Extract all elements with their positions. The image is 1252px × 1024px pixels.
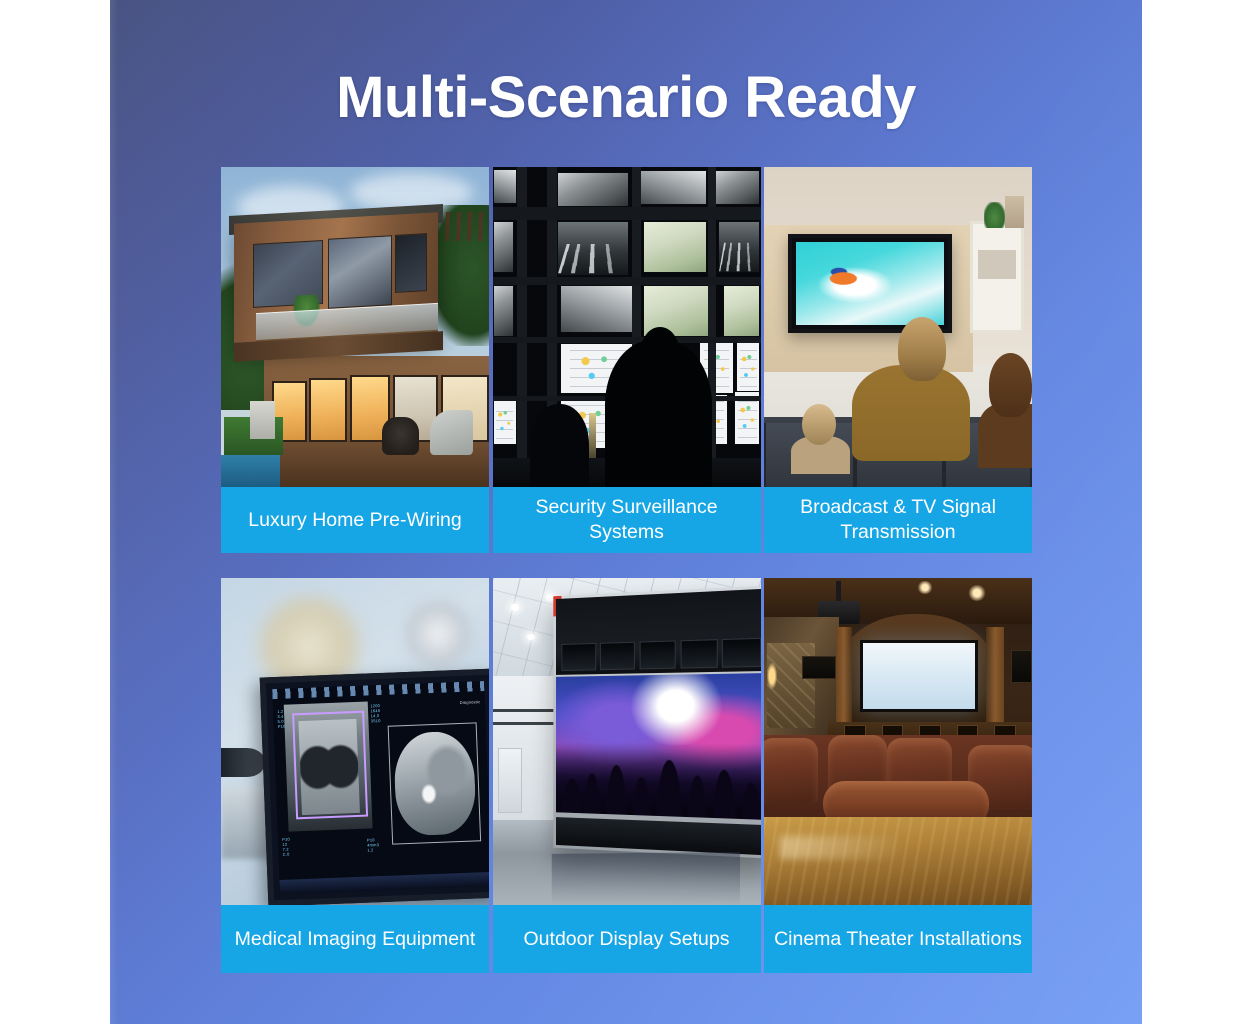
scenario-caption-broadcast-tv-signal-transmission: Broadcast & TV Signal Transmission (764, 487, 1032, 553)
scenario-caption-security-surveillance-systems: Security Surveillance Systems (493, 487, 761, 553)
scenario-image-outdoor-display-setups (493, 578, 761, 905)
scenario-image-security-surveillance-systems (493, 167, 761, 487)
scenario-image-luxury-home-pre-wiring (221, 167, 489, 487)
scenario-caption-luxury-home-pre-wiring: Luxury Home Pre-Wiring (221, 487, 489, 553)
scenario-card-security-surveillance-systems[interactable]: Security Surveillance Systems (493, 167, 761, 553)
promo-poster: Multi-Scenario Ready (110, 0, 1142, 1024)
scenario-card-broadcast-tv-signal-transmission[interactable]: Broadcast & TV Signal Transmission (764, 167, 1032, 553)
scenario-caption-outdoor-display-setups: Outdoor Display Setups (493, 905, 761, 973)
scenario-image-broadcast-tv-signal-transmission (764, 167, 1032, 487)
scenario-card-outdoor-display-setups[interactable]: Outdoor Display Setups (493, 578, 761, 973)
scenario-image-medical-imaging-equipment: 1.23.45.0P10 1200164014.03510 Diagnostic… (221, 578, 489, 905)
scenario-card-cinema-theater-installations[interactable]: Cinema Theater Installations (764, 578, 1032, 973)
scenario-card-luxury-home-pre-wiring[interactable]: Luxury Home Pre-Wiring (221, 167, 489, 553)
scenario-image-cinema-theater-installations (764, 578, 1032, 905)
page-title: Multi-Scenario Ready (110, 68, 1142, 129)
scenario-grid: Luxury Home Pre-Wiring (221, 167, 1032, 973)
scenario-caption-medical-imaging-equipment: Medical Imaging Equipment (221, 905, 489, 973)
scenario-card-medical-imaging-equipment[interactable]: 1.23.45.0P10 1200164014.03510 Diagnostic… (221, 578, 489, 973)
scenario-caption-cinema-theater-installations: Cinema Theater Installations (764, 905, 1032, 973)
